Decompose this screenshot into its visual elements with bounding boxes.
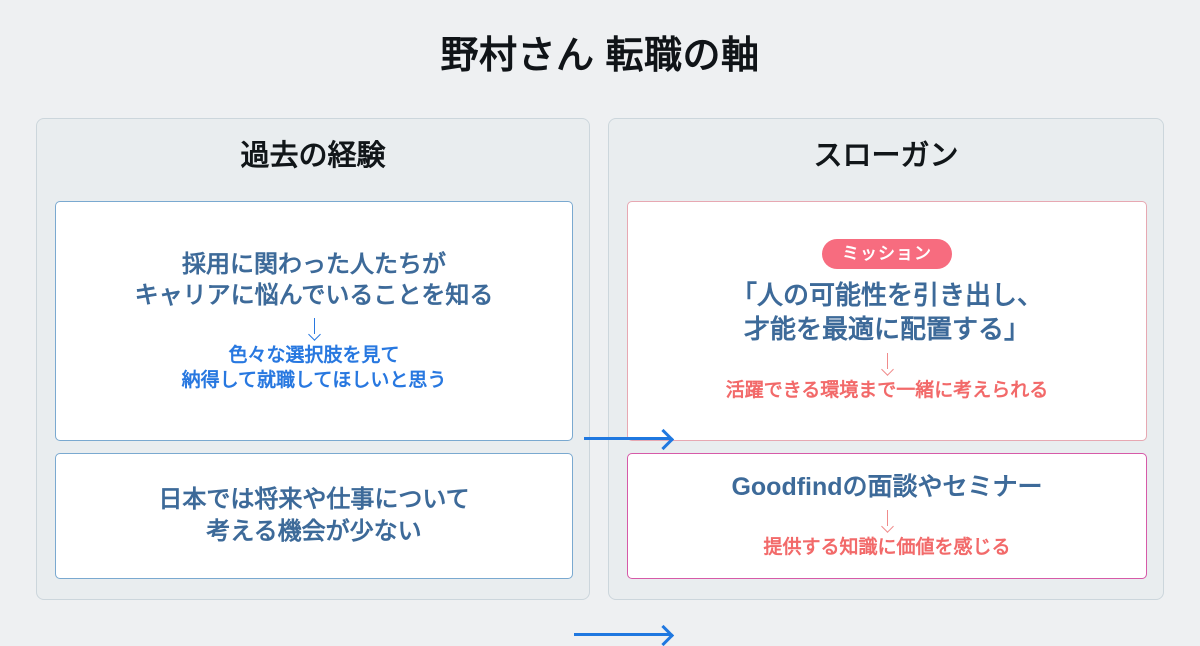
card-experience-2: 日本では将来や仕事について 考える機会が少ない [55,453,573,579]
arrow-right-icon-experience-to-mission [584,437,670,440]
diagram-board: 過去の経験 採用に関わった人たちが キャリアに悩んでいることを知る 色々な選択肢… [36,118,1164,600]
panel-left-heading: 過去の経験 [37,139,589,174]
card-experience-1-sub: 色々な選択肢を見て 納得して就職してほしいと思う [182,344,447,393]
down-arrow-icon [887,510,888,532]
card-goodfind-main: Goodfindの面談やセミナー [731,471,1042,504]
card-mission: ミッション 「人の可能性を引き出し、 才能を最適に配置する」 活躍できる環境まで… [627,201,1147,441]
down-arrow-icon [314,318,315,340]
status-badge-mission: ミッション [822,239,952,270]
panel-right-heading: スローガン [609,139,1163,174]
panel-past-experience: 過去の経験 採用に関わった人たちが キャリアに悩んでいることを知る 色々な選択肢… [36,118,590,600]
card-experience-1-main: 採用に関わった人たちが キャリアに悩んでいることを知る [135,249,494,312]
card-mission-main: 「人の可能性を引き出し、 才能を最適に配置する」 [731,279,1043,347]
card-experience-1: 採用に関わった人たちが キャリアに悩んでいることを知る 色々な選択肢を見て 納得… [55,201,573,441]
panel-slogan: スローガン ミッション 「人の可能性を引き出し、 才能を最適に配置する」 活躍で… [608,118,1164,600]
card-goodfind-sub: 提供する知識に価値を感じる [763,536,1010,561]
card-goodfind: Goodfindの面談やセミナー 提供する知識に価値を感じる [627,453,1147,579]
page-title: 野村さん 転職の軸 [0,34,1200,80]
card-mission-sub: 活躍できる環境まで一緒に考えられる [726,379,1049,404]
card-experience-2-main: 日本では将来や仕事について 考える機会が少ない [158,484,469,547]
arrow-right-icon-experience-to-goodfind [574,633,670,636]
down-arrow-icon [887,353,888,375]
